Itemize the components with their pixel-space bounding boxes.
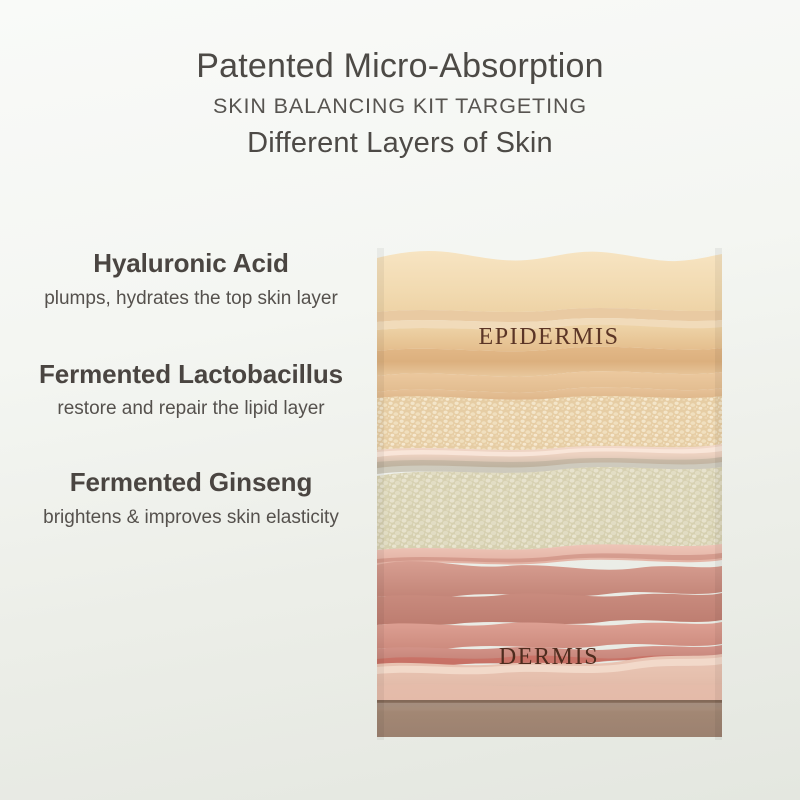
page-subtitle: SKIN BALANCING KIT TARGETING [0, 94, 800, 120]
layer-stratum-corneum [377, 251, 722, 312]
page-title: Patented Micro-Absorption [0, 47, 800, 85]
header-block: Patented Micro-Absorption SKIN BALANCING… [0, 47, 800, 160]
layer-lipid-layer [377, 460, 722, 555]
ingredient-name: Fermented Lactobacillus [30, 357, 352, 392]
skin-layers-svg: EPIDERMIS [377, 248, 722, 740]
page-tagline: Different Layers of Skin [0, 127, 800, 160]
ingredient-item-hyaluronic-acid: Hyaluronic Acid plumps, hydrates the top… [30, 246, 352, 313]
layer-epidermis-mid [377, 347, 722, 377]
ingredient-description: plumps, hydrates the top skin layer [30, 286, 352, 313]
infographic-poster: Patented Micro-Absorption SKIN BALANCING… [0, 0, 800, 800]
layer-label-epidermis: EPIDERMIS [478, 324, 619, 350]
ingredient-description: brightens & improves skin elasticity [30, 505, 352, 532]
ingredient-list: Hyaluronic Acid plumps, hydrates the top… [30, 246, 352, 558]
diagram-edge-shade-left [377, 248, 384, 740]
layer-dermis-band-2 [377, 593, 722, 625]
diagram-edge-shade-right [715, 248, 722, 740]
layer-dermis-band-1 [377, 561, 722, 597]
ingredient-item-fermented-ginseng: Fermented Ginseng brightens & improves s… [30, 465, 352, 532]
skin-cross-section-diagram: EPIDERMIS [377, 248, 722, 740]
ingredient-name: Hyaluronic Acid [30, 246, 352, 281]
layer-muscle-top-edge [377, 700, 722, 703]
ingredient-item-fermented-lactobacillus: Fermented Lactobacillus restore and repa… [30, 357, 352, 424]
ingredient-description: restore and repair the lipid layer [30, 396, 352, 423]
layer-muscle-sheen [377, 703, 722, 712]
layer-label-dermis: DERMIS [499, 644, 599, 670]
ingredient-name: Fermented Ginseng [30, 465, 352, 500]
